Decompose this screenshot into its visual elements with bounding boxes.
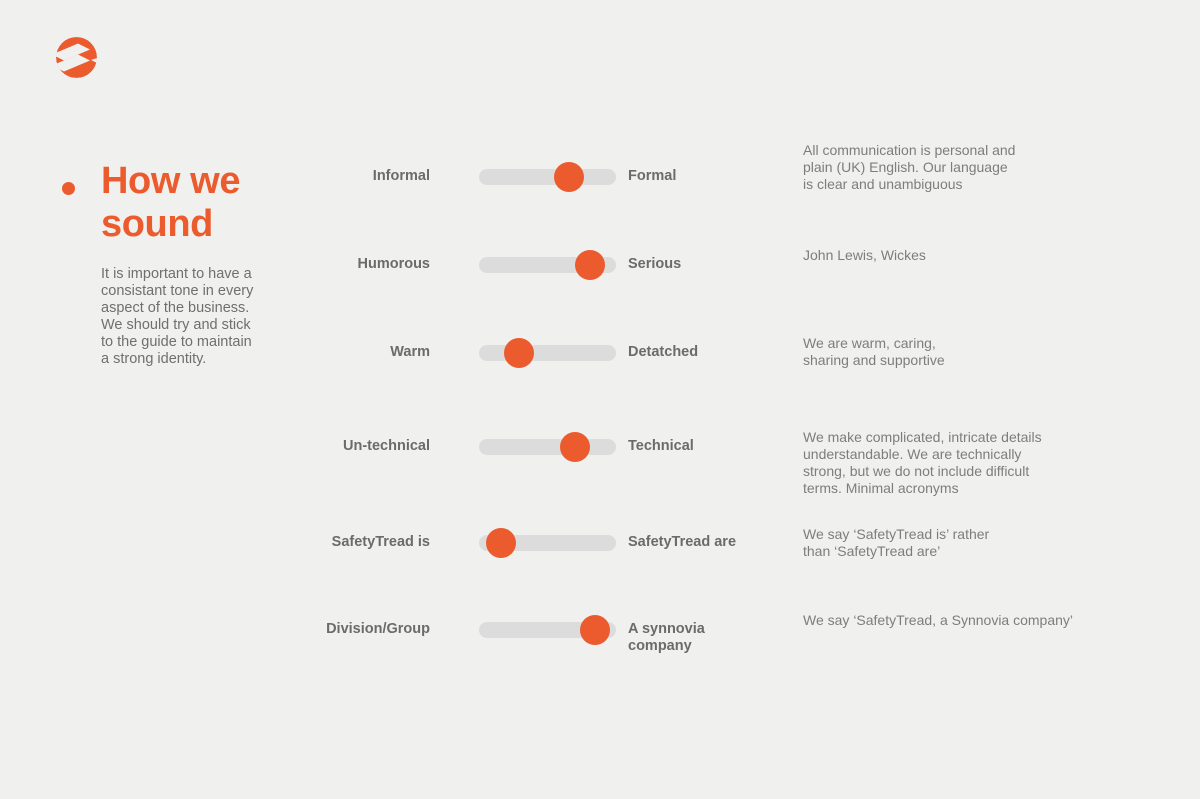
scale-knob[interactable] <box>486 528 516 558</box>
scale-slider[interactable] <box>479 345 616 361</box>
scale-track[interactable] <box>479 345 616 361</box>
scale-left-label: Division/Group <box>170 621 430 638</box>
scale-slider[interactable] <box>479 439 616 455</box>
scale-left-label: Humorous <box>170 256 430 273</box>
scale-knob[interactable] <box>575 250 605 280</box>
scale-knob[interactable] <box>580 615 610 645</box>
scale-note: John Lewis, Wickes <box>803 247 1123 264</box>
scale-note: All communication is personal and plain … <box>803 142 1123 193</box>
scale-note: We make complicated, intricate details u… <box>803 429 1123 497</box>
scale-note: We say ‘SafetyTread is’ rather than ‘Saf… <box>803 526 1123 560</box>
scale-right-label: SafetyTread are <box>628 534 798 551</box>
scale-right-label: A synnovia company <box>628 621 798 655</box>
scale-track[interactable] <box>479 169 616 185</box>
scale-track[interactable] <box>479 439 616 455</box>
scale-right-label: Formal <box>628 168 798 185</box>
synnovia-mark-icon <box>56 37 97 78</box>
scale-knob[interactable] <box>560 432 590 462</box>
scale-right-label: Detatched <box>628 344 798 361</box>
scale-slider[interactable] <box>479 535 616 551</box>
scale-knob[interactable] <box>554 162 584 192</box>
scale-slider[interactable] <box>479 257 616 273</box>
scale-left-label: SafetyTread is <box>170 534 430 551</box>
scale-knob[interactable] <box>504 338 534 368</box>
bullet-dot-icon <box>62 182 75 195</box>
scale-right-label: Technical <box>628 438 798 455</box>
scale-left-label: Informal <box>170 168 430 185</box>
scale-left-label: Un-technical <box>170 438 430 455</box>
scale-left-label: Warm <box>170 344 430 361</box>
scale-slider[interactable] <box>479 622 616 638</box>
scale-slider[interactable] <box>479 169 616 185</box>
scale-right-label: Serious <box>628 256 798 273</box>
scale-note: We say ‘SafetyTread, a Synnovia company’ <box>803 612 1123 629</box>
scale-note: We are warm, caring, sharing and support… <box>803 335 1123 369</box>
